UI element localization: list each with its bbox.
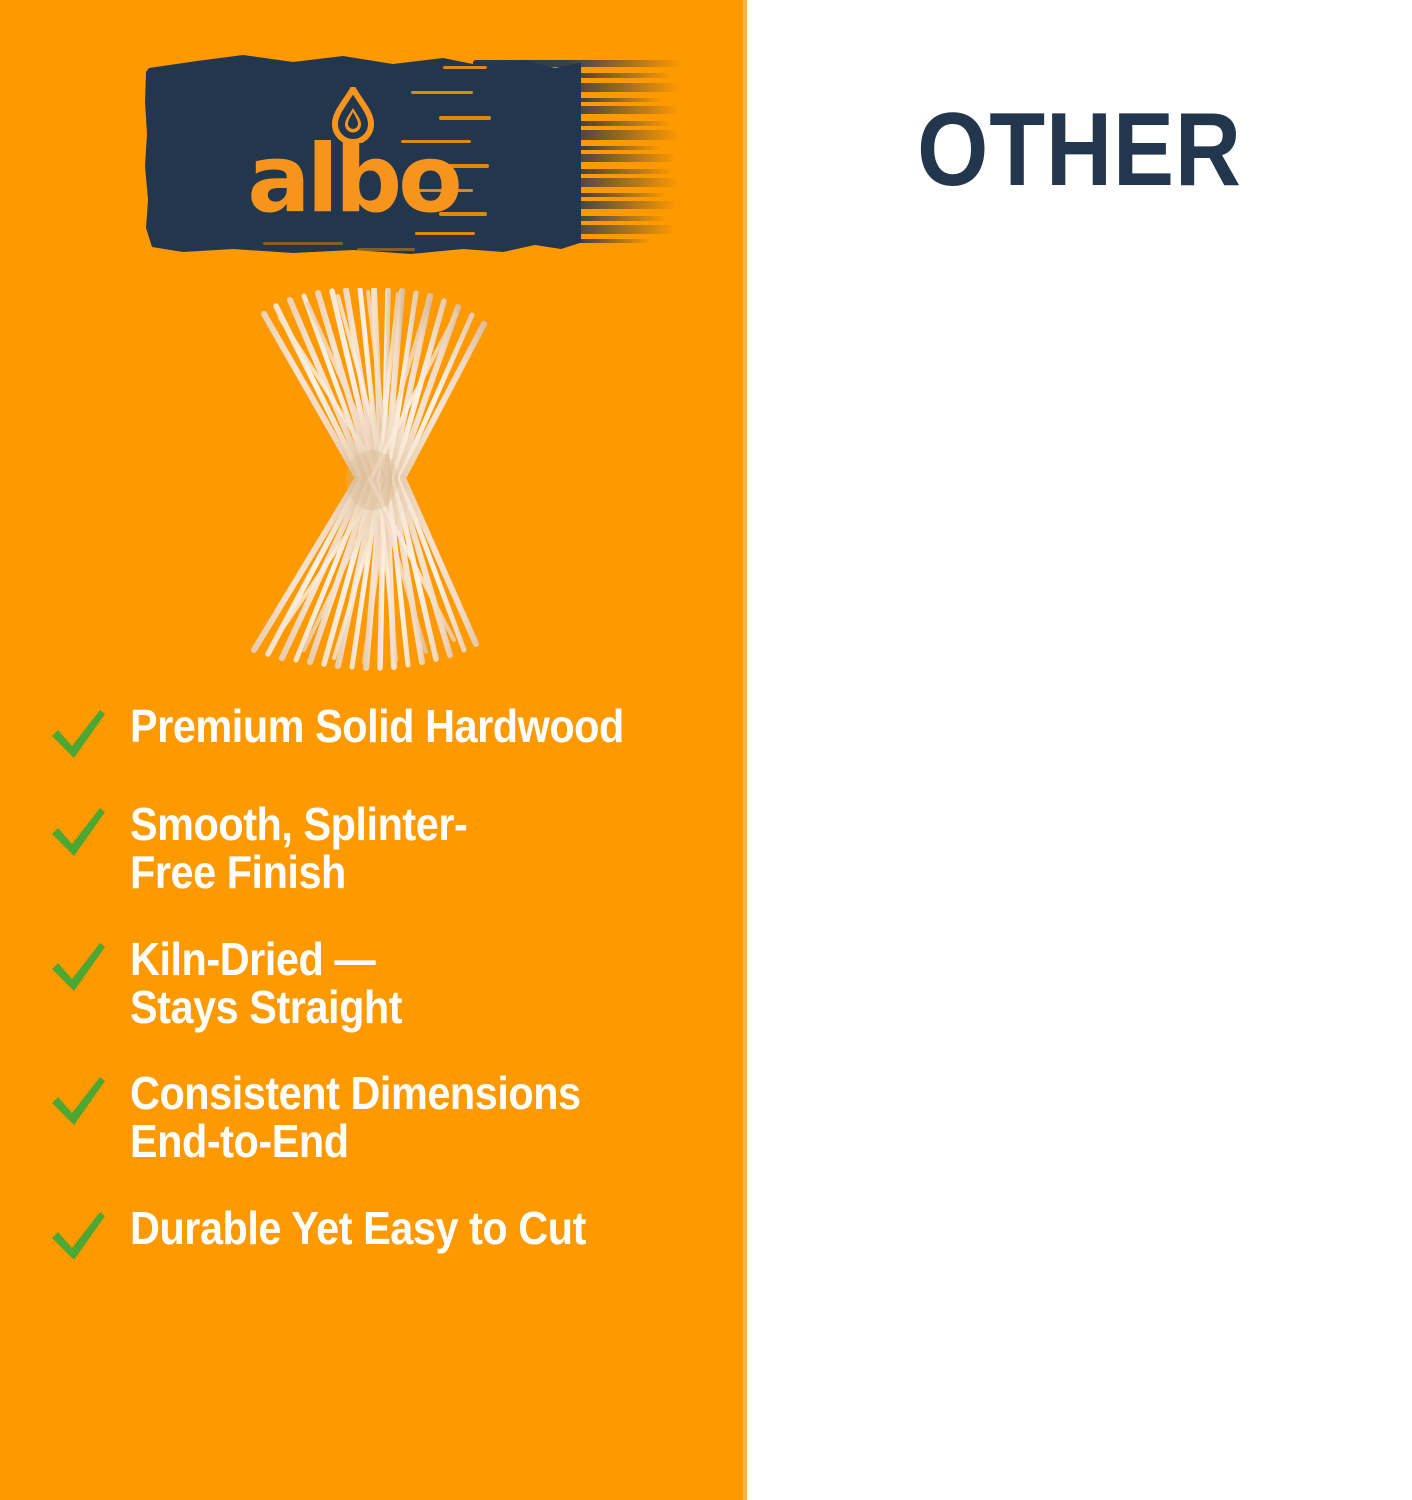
page-title: OTHER <box>787 98 1372 202</box>
brand-feature-list: Premium Solid Hardwood Smooth, Splinter-… <box>48 702 728 1264</box>
list-item-label: Smooth, Splinter- Free Finish <box>130 800 467 897</box>
comparison-infographic: albo <box>0 0 1412 1500</box>
list-item: Smooth, Splinter- Free Finish <box>48 800 728 897</box>
list-item: Durable Yet Easy to Cut <box>48 1204 728 1264</box>
check-icon <box>48 939 108 995</box>
other-panel: OTHER <box>747 0 1412 1500</box>
list-item-label: Premium Solid Hardwood <box>130 702 624 750</box>
list-item-label: Durable Yet Easy to Cut <box>130 1204 586 1252</box>
check-icon <box>48 804 108 860</box>
check-icon <box>48 706 108 762</box>
list-item-label: Consistent Dimensions End-to-End <box>130 1069 581 1166</box>
list-item-label: Kiln-Dried — Stays Straight <box>130 935 402 1032</box>
brand-logo-banner: albo <box>143 42 681 264</box>
check-icon <box>48 1208 108 1264</box>
check-icon <box>48 1073 108 1129</box>
list-item: Consistent Dimensions End-to-End <box>48 1069 728 1166</box>
brand-panel: albo <box>0 0 747 1500</box>
list-item: Premium Solid Hardwood <box>48 702 728 762</box>
wooden-sticks-image <box>246 288 496 672</box>
list-item: Kiln-Dried — Stays Straight <box>48 935 728 1032</box>
